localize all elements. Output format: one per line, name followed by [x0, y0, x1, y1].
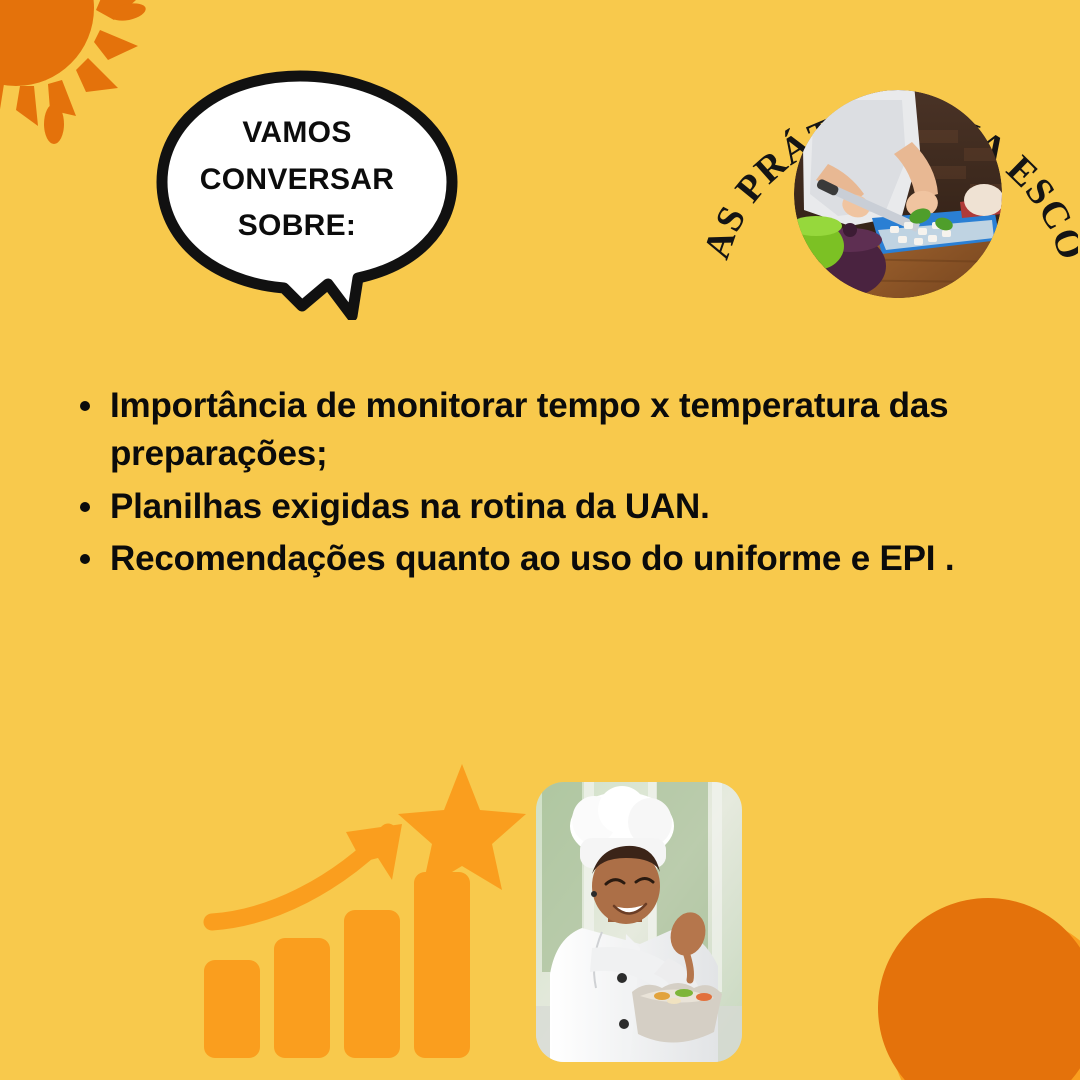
topics-list: Importância de monitorar tempo x tempera…	[66, 382, 1026, 587]
circle-decoration-dark	[878, 898, 1080, 1080]
boas-praticas-badge: BOAS PRÁTICAS NA ESCOLA	[706, 16, 1078, 336]
bar-3	[344, 910, 400, 1058]
bar-4	[414, 872, 470, 1058]
chef-photo	[536, 782, 742, 1062]
poster-canvas: VAMOS CONVERSAR SOBRE: BOAS PRÁTICAS NA …	[0, 0, 1080, 1080]
bubble-line-2: CONVERSAR	[152, 157, 442, 204]
list-item: Planilhas exigidas na rotina da UAN.	[110, 483, 1026, 531]
bubble-line-3: SOBRE:	[152, 203, 442, 250]
star-icon	[398, 764, 526, 890]
bar-1	[204, 960, 260, 1058]
bubble-line-1: VAMOS	[152, 110, 442, 157]
speech-bubble: VAMOS CONVERSAR SOBRE:	[152, 70, 462, 320]
bar-2	[274, 938, 330, 1058]
growth-bar-chart-icon	[196, 762, 526, 1062]
list-item: Recomendações quanto ao uso do uniforme …	[110, 535, 1026, 583]
list-item: Importância de monitorar tempo x tempera…	[110, 382, 1026, 479]
paint-splatter-decoration	[0, 0, 172, 168]
badge-photo-cooking	[794, 90, 1002, 298]
speech-bubble-text: VAMOS CONVERSAR SOBRE:	[152, 110, 442, 250]
